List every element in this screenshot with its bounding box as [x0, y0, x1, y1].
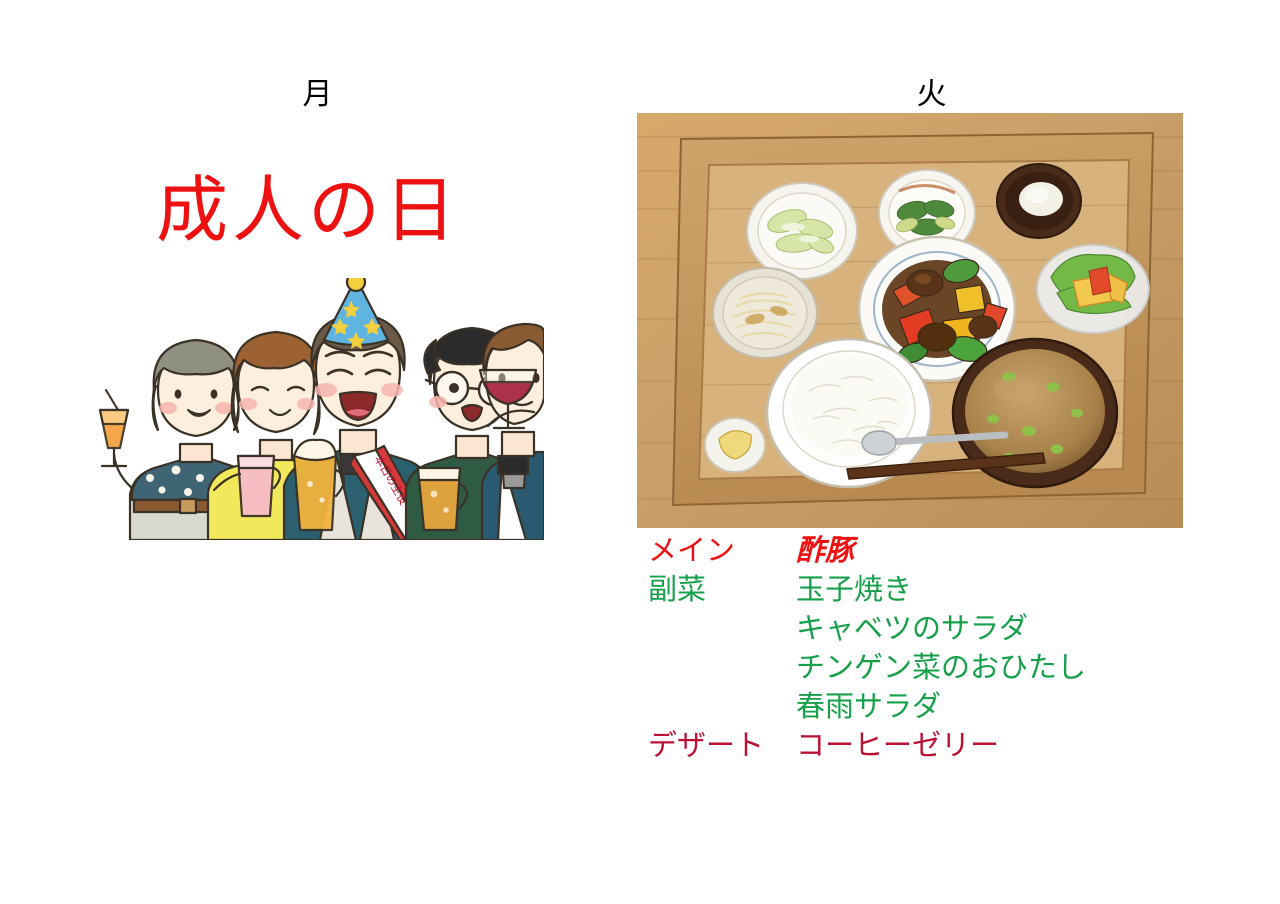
plate-tamagoyaki [1037, 245, 1149, 333]
meal-tray-photo [637, 113, 1183, 528]
menu-value-dessert: コーヒーゼリー [796, 729, 999, 763]
bowl-harusame [713, 268, 817, 358]
menu-row-side-2: キャベツのサラダ [648, 612, 1268, 651]
menu-value-side-4: 春雨サラダ [796, 690, 941, 724]
menu-value-main: 酢豚 [796, 534, 854, 568]
menu-value-side-1: 玉子焼き [796, 573, 912, 607]
menu-row-main: メイン 酢豚 [648, 534, 1268, 573]
glass-coffee-jelly [997, 164, 1081, 238]
day-header-tuesday: 火 [612, 78, 1252, 112]
dish-pickles [705, 418, 765, 472]
bowl-cabbage [747, 183, 857, 279]
menu-label-side: 副菜 [648, 573, 796, 607]
menu-list: メイン 酢豚 副菜 玉子焼き キャベツのサラダ チンゲン菜のおひたし 春雨サラダ… [648, 534, 1268, 768]
menu-row-side-4: 春雨サラダ [648, 690, 1268, 729]
menu-label-dessert: デザート [648, 729, 796, 763]
day-column-tuesday: 火 [640, 0, 1280, 904]
day-header-monday: 月 [0, 78, 638, 112]
menu-value-side-2: キャベツのサラダ [796, 612, 1028, 646]
menu-row-side-3: チンゲン菜のおひたし [648, 651, 1268, 690]
menu-row-dessert: デザート コーヒーゼリー [648, 729, 1268, 768]
day-column-monday: 月 成人の日 [0, 0, 640, 904]
menu-label-main: メイン [648, 534, 796, 568]
menu-value-side-3: チンゲン菜のおひたし [796, 651, 1086, 685]
coming-of-age-celebration-illustration: 本日の主役 [88, 278, 544, 540]
menu-row-side-1: 副菜 玉子焼き [648, 573, 1268, 612]
person-5 [480, 324, 544, 540]
holiday-title: 成人の日 [0, 168, 628, 254]
